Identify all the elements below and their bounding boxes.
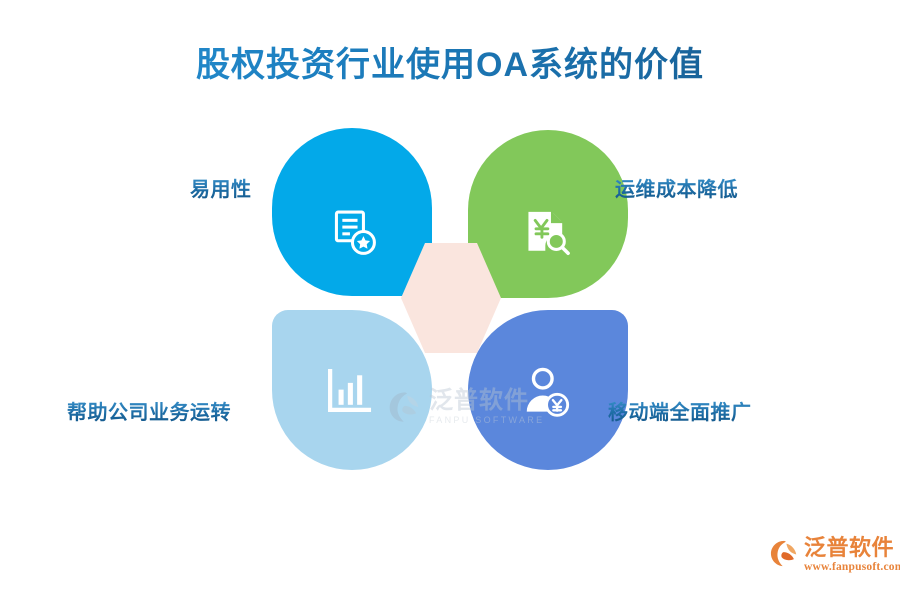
node-label-top-left: 易用性 [190, 173, 252, 202]
node-label-bottom-right: 移动端全面推广 [608, 396, 752, 425]
brand-logo[interactable]: 泛普软件 www.fanpusoft.com [770, 537, 892, 585]
user-yuan-icon [520, 366, 574, 420]
four-petal-diagram [272, 128, 628, 480]
slide-canvas: 股权投资行业使用OA系统的价值 [0, 0, 900, 600]
invoice-search-icon [520, 206, 574, 260]
node-label-bottom-left: 帮助公司业务运转 [67, 396, 231, 425]
brand-cn-text: 泛普软件 [804, 537, 900, 559]
petal-bottom-right[interactable] [468, 310, 628, 478]
bar-chart-icon [320, 366, 374, 420]
document-star-icon [328, 207, 382, 261]
brand-url-text: www.fanpusoft.com [804, 562, 900, 574]
petal-top-right[interactable] [468, 130, 628, 298]
page-title: 股权投资行业使用OA系统的价值 [0, 44, 900, 87]
petal-bottom-left[interactable] [272, 310, 432, 478]
node-label-top-right: 运维成本降低 [615, 173, 738, 202]
fanpu-logo-icon [770, 539, 800, 568]
petal-top-left[interactable] [272, 128, 432, 296]
